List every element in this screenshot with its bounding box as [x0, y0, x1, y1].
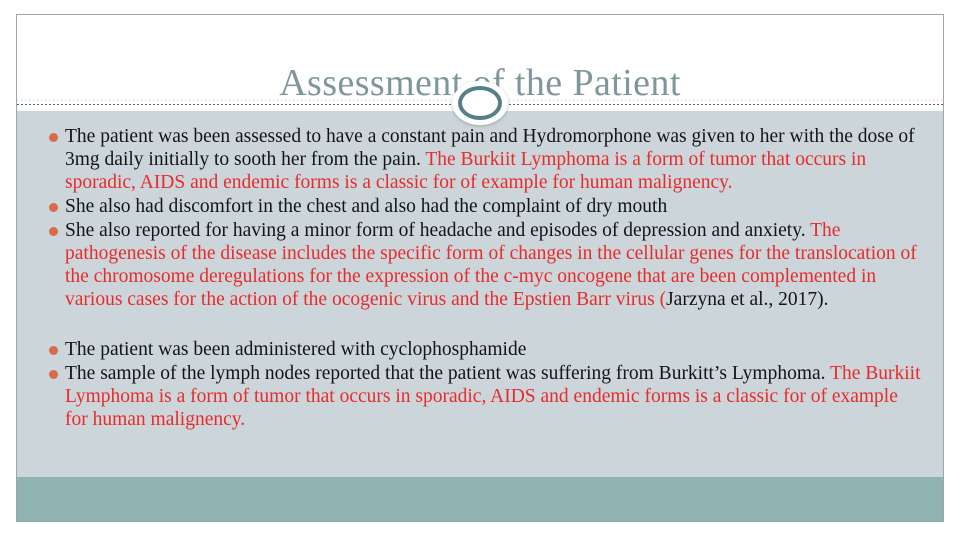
bullet-list: The patient was been assessed to have a … [43, 125, 921, 431]
body-text-run: The sample of the lymph nodes reported t… [65, 363, 830, 384]
list-item: She also had discomfort in the chest and… [43, 195, 921, 218]
footer-bar [17, 477, 943, 521]
list-item: The sample of the lymph nodes reported t… [43, 362, 921, 431]
list-item: She also reported for having a minor for… [43, 219, 921, 311]
slide-canvas: Assessment of the Patient The patient wa… [16, 14, 944, 522]
body-text-run: She also had discomfort in the chest and… [65, 196, 667, 217]
oval-ring-ornament-icon [452, 81, 508, 125]
slide-body: The patient was been assessed to have a … [17, 111, 943, 477]
list-item: The patient was been administered with c… [43, 338, 921, 361]
list-item: The patient was been assessed to have a … [43, 125, 921, 194]
body-text-run: Jarzyna et al., 2017). [666, 289, 828, 310]
body-text-run: She also reported for having a minor for… [65, 220, 810, 241]
body-text-run: The patient was been administered with c… [65, 339, 526, 360]
